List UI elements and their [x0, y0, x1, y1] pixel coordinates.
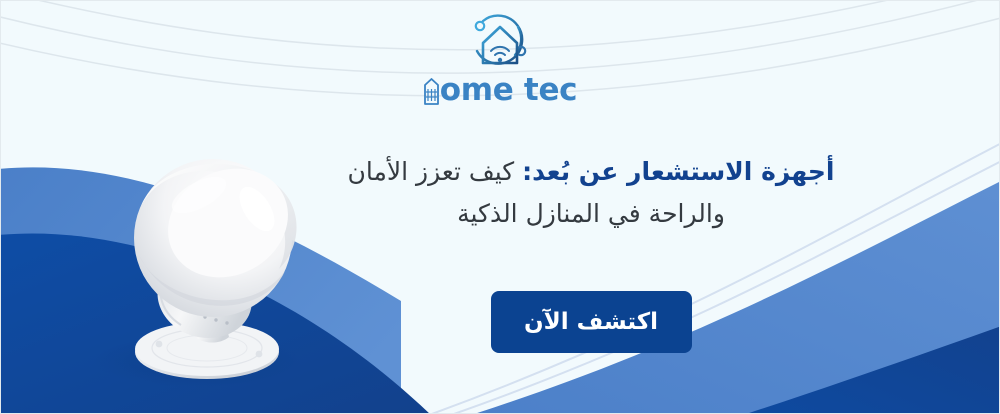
home-tec-house-wifi-logo-icon: [463, 11, 537, 69]
page-title: أجهزة الاستشعار عن بُعد: كيف تعزز الأمان…: [331, 151, 851, 235]
brand-logo[interactable]: ome tec: [1, 11, 999, 105]
smart-motion-sensor-image: [89, 151, 329, 391]
logo-wordmark: ome tec: [423, 71, 578, 105]
sensor-sphere: [134, 151, 307, 317]
logo-word-text: ome tec: [440, 75, 578, 105]
cta-container: اكتشف الآن: [331, 291, 851, 353]
discover-now-button[interactable]: اكتشف الآن: [491, 291, 692, 353]
headline-emphasis: أجهزة الاستشعار عن بُعد:: [522, 157, 834, 186]
headline-block: أجهزة الاستشعار عن بُعد: كيف تعزز الأمان…: [331, 151, 851, 235]
promo-banner: ome tec أجهزة الاستشعار عن بُعد: كيف تعز…: [0, 0, 1000, 414]
house-h-letter-icon: [423, 75, 440, 105]
